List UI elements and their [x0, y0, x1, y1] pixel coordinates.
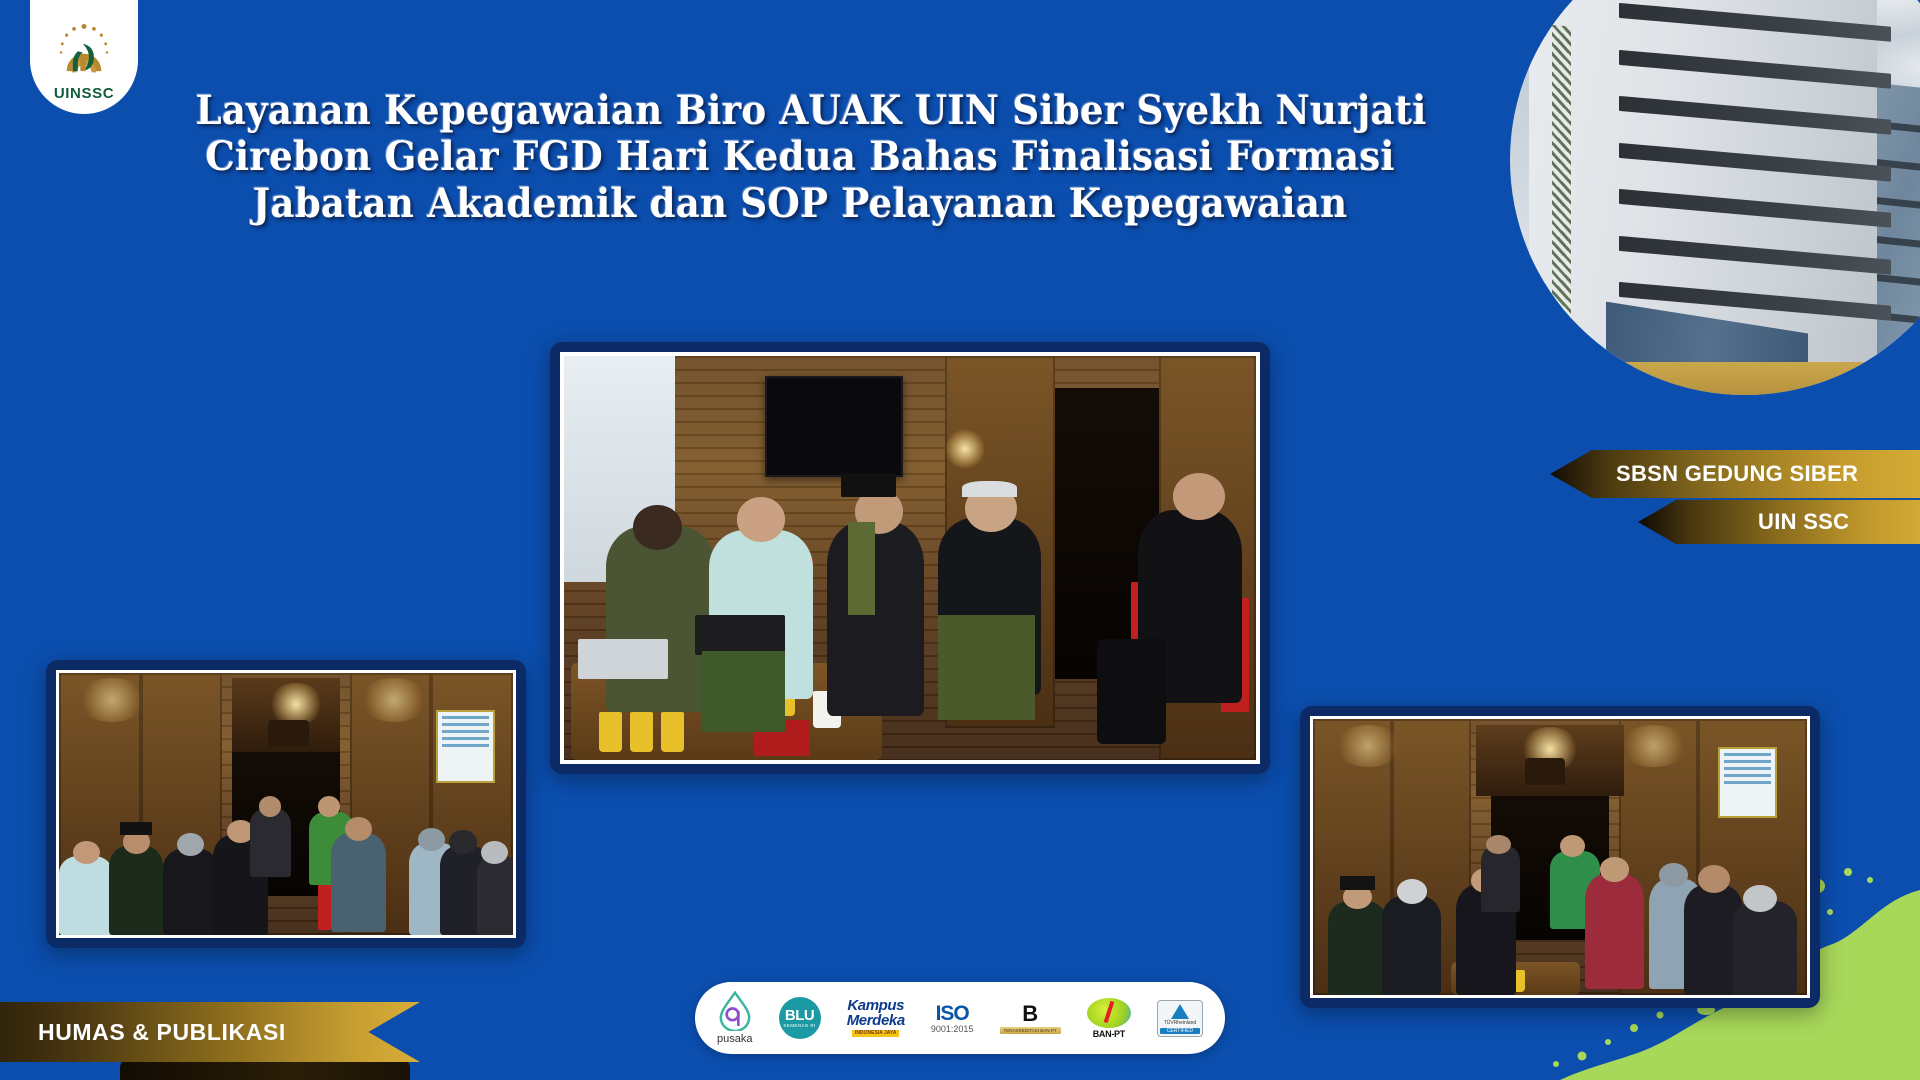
blu-badge-icon: BLU KEMENAG RI	[779, 997, 821, 1039]
left-photo	[56, 670, 516, 938]
ribbon-uinssc-label: UIN SSC	[1758, 509, 1849, 535]
pusaka-droplet-icon	[718, 991, 752, 1031]
main-photo	[560, 352, 1260, 764]
kampus-merdeka-logo: Kampus Merdeka INDONESIA JAYA	[847, 999, 905, 1036]
building-photo	[1510, 0, 1920, 395]
akreditasi-scroll-label: TERAKREDITASI BAN-PT	[1000, 1027, 1061, 1034]
ribbon-sbsn-label: SBSN GEDUNG SIBER	[1616, 461, 1858, 487]
humas-publikasi-ribbon: HUMAS & PUBLIKASI	[0, 1002, 420, 1062]
title-line-2: Cirebon Gelar FGD Hari Kedua Bahas Final…	[196, 134, 1405, 180]
pusaka-logo: pusaka	[717, 991, 752, 1045]
certification-logo-strip: pusaka BLU KEMENAG RI Kampus Merdeka IND…	[695, 982, 1225, 1054]
main-photo-frame	[550, 342, 1270, 774]
tuv-triangle-icon	[1171, 1004, 1189, 1019]
blu-logo: BLU KEMENAG RI	[779, 997, 821, 1039]
ban-pt-globe-icon	[1087, 998, 1131, 1028]
uinssc-logo-text: UINSSC	[54, 85, 114, 102]
ban-pt-label: BAN-PT	[1093, 1029, 1125, 1039]
tuv-badge-icon: TÜVRheinland CERTIFIED	[1157, 1000, 1203, 1037]
uinssc-logo-badge: UINSSC	[30, 0, 138, 114]
building-facade	[1529, 0, 1877, 395]
iso-sublabel: 9001:2015	[931, 1024, 974, 1034]
kampus-merdeka-line2: Merdeka	[847, 1014, 905, 1028]
iso-label: ISO	[936, 1003, 969, 1024]
left-photo-frame	[46, 660, 526, 948]
kampus-merdeka-sublabel: INDONESIA JAYA	[852, 1030, 899, 1037]
akreditasi-b-logo: B TERAKREDITASI BAN-PT	[1000, 1003, 1061, 1034]
akreditasi-grade: B	[1022, 1003, 1038, 1025]
tuv-rheinland-logo: TÜVRheinland CERTIFIED	[1157, 1000, 1203, 1037]
ribbon-sbsn-gedung-siber: SBSN GEDUNG SIBER	[1550, 450, 1920, 498]
right-photo-frame	[1300, 706, 1820, 1008]
ribbon-uin-ssc: UIN SSC	[1638, 500, 1920, 544]
ban-pt-logo: BAN-PT	[1087, 998, 1131, 1039]
blu-label: BLU	[785, 1008, 814, 1023]
tuv-certified-label: CERTIFIED	[1160, 1028, 1200, 1034]
wall-poster	[436, 710, 495, 783]
tuv-label: TÜVRheinland	[1164, 1020, 1197, 1026]
right-photo	[1310, 716, 1810, 998]
title-line-3: Jabatan Akademik dan SOP Pelayanan Kepeg…	[196, 181, 1405, 227]
uinssc-emblem-icon	[53, 19, 115, 81]
wall-poster	[1718, 747, 1777, 819]
iso-logo: ISO 9001:2015	[931, 1003, 974, 1034]
building-foreground-ground	[1510, 362, 1920, 395]
title-line-1: Layanan Kepegawaian Biro AUAK UIN Siber …	[196, 88, 1405, 134]
page-title: Layanan Kepegawaian Biro AUAK UIN Siber …	[150, 88, 1450, 227]
pusaka-label: pusaka	[717, 1033, 752, 1045]
blu-sublabel: KEMENAG RI	[783, 1023, 815, 1028]
humas-ribbon-label: HUMAS & PUBLIKASI	[38, 1019, 286, 1046]
